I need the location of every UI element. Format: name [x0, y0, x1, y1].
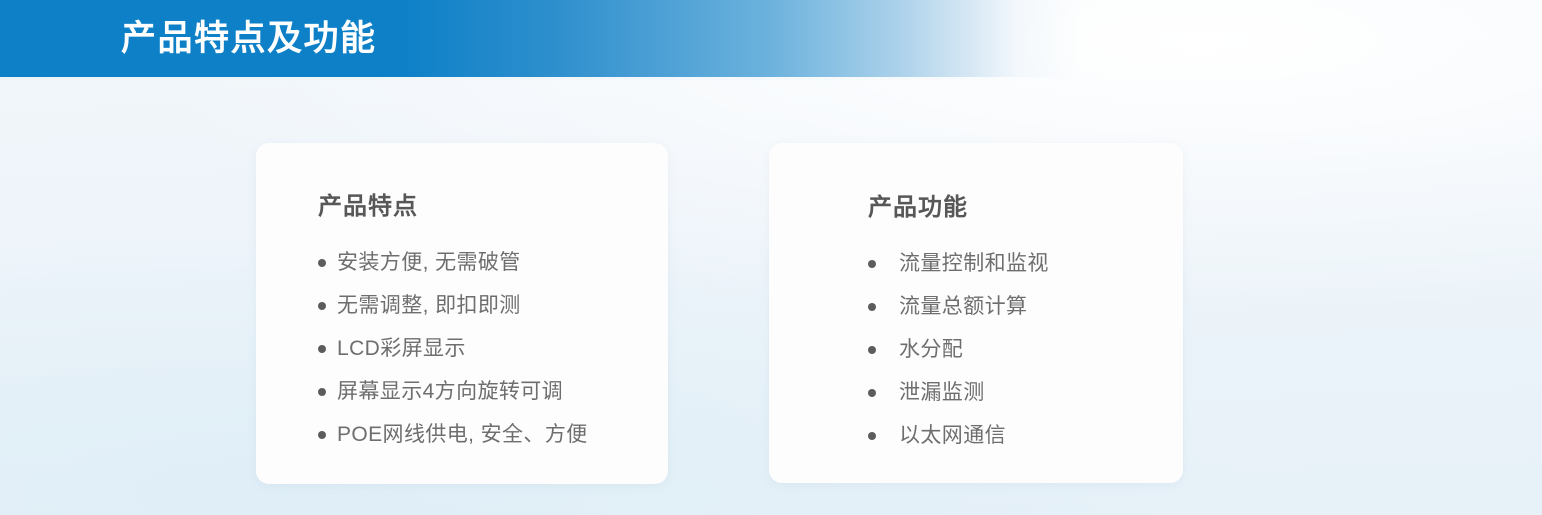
- list-item: POE网线供电, 安全、方便: [318, 413, 588, 456]
- product-features-section: 产品特点及功能 产品特点 安装方便, 无需破管 无需调整, 即扣即测: [0, 0, 1542, 515]
- list-item-label: 屏幕显示4方向旋转可调: [337, 378, 563, 406]
- bullet-dot-icon: [318, 302, 326, 310]
- list-item: 屏幕显示4方向旋转可调: [318, 370, 588, 413]
- card-title-product-features: 产品特点: [318, 192, 418, 222]
- bullet-dot-icon: [868, 432, 876, 440]
- list-item-label: 水分配: [899, 336, 963, 364]
- bullet-dot-icon: [318, 431, 326, 439]
- section-title: 产品特点及功能: [121, 17, 377, 61]
- list-item-label: 无需调整, 即扣即测: [337, 292, 521, 320]
- list-item: 流量总额计算: [868, 285, 1049, 328]
- list-item-label: LCD彩屏显示: [337, 335, 466, 363]
- list-item-label: 流量控制和监视: [899, 250, 1049, 278]
- list-item: 水分配: [868, 328, 1049, 371]
- list-item: 泄漏监测: [868, 371, 1049, 414]
- bullet-dot-icon: [868, 303, 876, 311]
- section-header-banner: 产品特点及功能: [0, 0, 1542, 77]
- card-body: 产品功能 流量控制和监视 流量总额计算 水分配: [769, 143, 1183, 483]
- list-item-label: 安装方便, 无需破管: [337, 249, 521, 277]
- bullet-dot-icon: [318, 259, 326, 267]
- list-item: 安装方便, 无需破管: [318, 241, 588, 284]
- banner-underline: [0, 77, 1542, 80]
- list-item-label: POE网线供电, 安全、方便: [337, 421, 588, 449]
- list-item: 以太网通信: [868, 414, 1049, 457]
- list-item: LCD彩屏显示: [318, 327, 588, 370]
- card-body: 产品特点 安装方便, 无需破管 无需调整, 即扣即测 LCD彩屏显示: [256, 143, 668, 484]
- bullet-dot-icon: [868, 260, 876, 268]
- bullet-dot-icon: [868, 346, 876, 354]
- list-item: 流量控制和监视: [868, 242, 1049, 285]
- list-item-label: 以太网通信: [899, 422, 1006, 450]
- function-list: 流量控制和监视 流量总额计算 水分配 泄漏监测: [868, 242, 1049, 457]
- card-product-features: 产品特点 安装方便, 无需破管 无需调整, 即扣即测 LCD彩屏显示: [256, 143, 668, 484]
- bullet-dot-icon: [318, 345, 326, 353]
- bullet-dot-icon: [318, 388, 326, 396]
- list-item-label: 流量总额计算: [899, 293, 1027, 321]
- bullet-dot-icon: [868, 389, 876, 397]
- list-item: 无需调整, 即扣即测: [318, 284, 588, 327]
- card-title-product-functions: 产品功能: [868, 193, 968, 223]
- list-item-label: 泄漏监测: [899, 379, 985, 407]
- card-product-functions: 产品功能 流量控制和监视 流量总额计算 水分配: [769, 143, 1183, 483]
- feature-list: 安装方便, 无需破管 无需调整, 即扣即测 LCD彩屏显示 屏幕显示4方向旋转可…: [318, 241, 588, 456]
